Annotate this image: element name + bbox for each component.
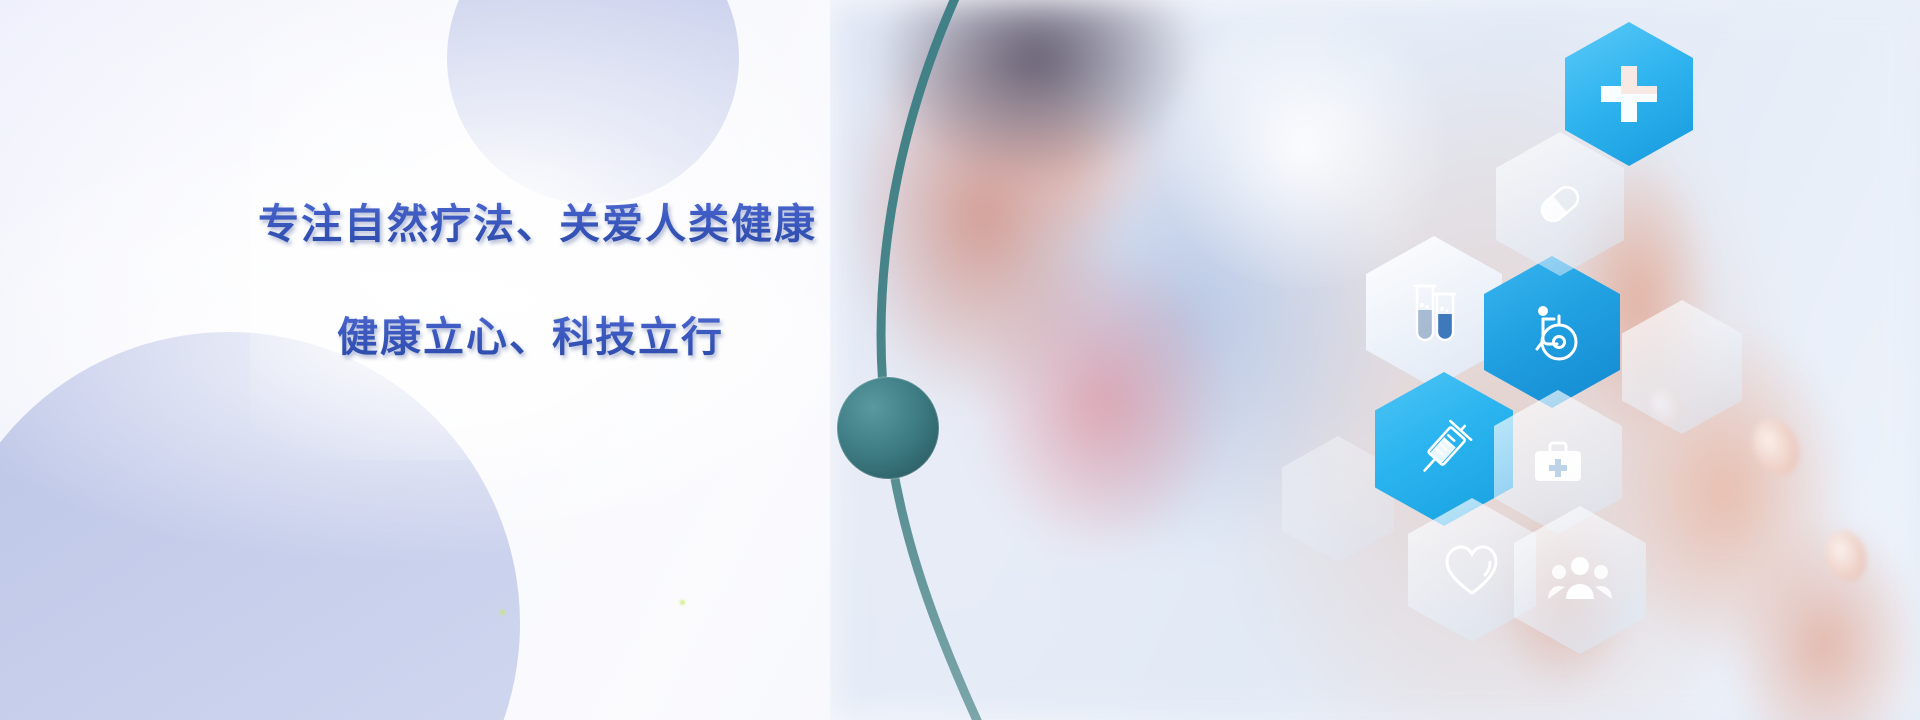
medical-cross-icon <box>1593 58 1665 130</box>
people-group-icon <box>1546 551 1614 609</box>
first-aid-kit-icon <box>1527 431 1589 493</box>
hero-banner: 专注自然疗法、关爱人类健康 健康立心、科技立行 <box>0 0 1920 720</box>
syringe-icon <box>1407 412 1481 486</box>
headline-line-2: 健康立心、科技立行 <box>337 303 724 363</box>
test-tubes-icon <box>1401 276 1467 348</box>
hexagon-first-aid-kit <box>1494 390 1622 534</box>
hexagon-people-group <box>1514 506 1646 654</box>
headline-block: 专注自然疗法、关爱人类健康 健康立心、科技立行 <box>0 0 860 720</box>
hexagon-capsule <box>1496 132 1624 276</box>
heart-icon <box>1441 541 1503 599</box>
hexagon-medical-cross <box>1565 22 1693 166</box>
headline-line-1: 专注自然疗法、关爱人类健康 <box>258 190 817 250</box>
hexagon-wheelchair <box>1484 256 1620 408</box>
wheelchair-icon <box>1517 297 1587 367</box>
hexagon-decorative <box>1622 300 1742 434</box>
hexagon-syringe <box>1375 372 1513 526</box>
hexagon-test-tubes <box>1366 236 1502 388</box>
capsule-pill-icon <box>1527 171 1593 237</box>
